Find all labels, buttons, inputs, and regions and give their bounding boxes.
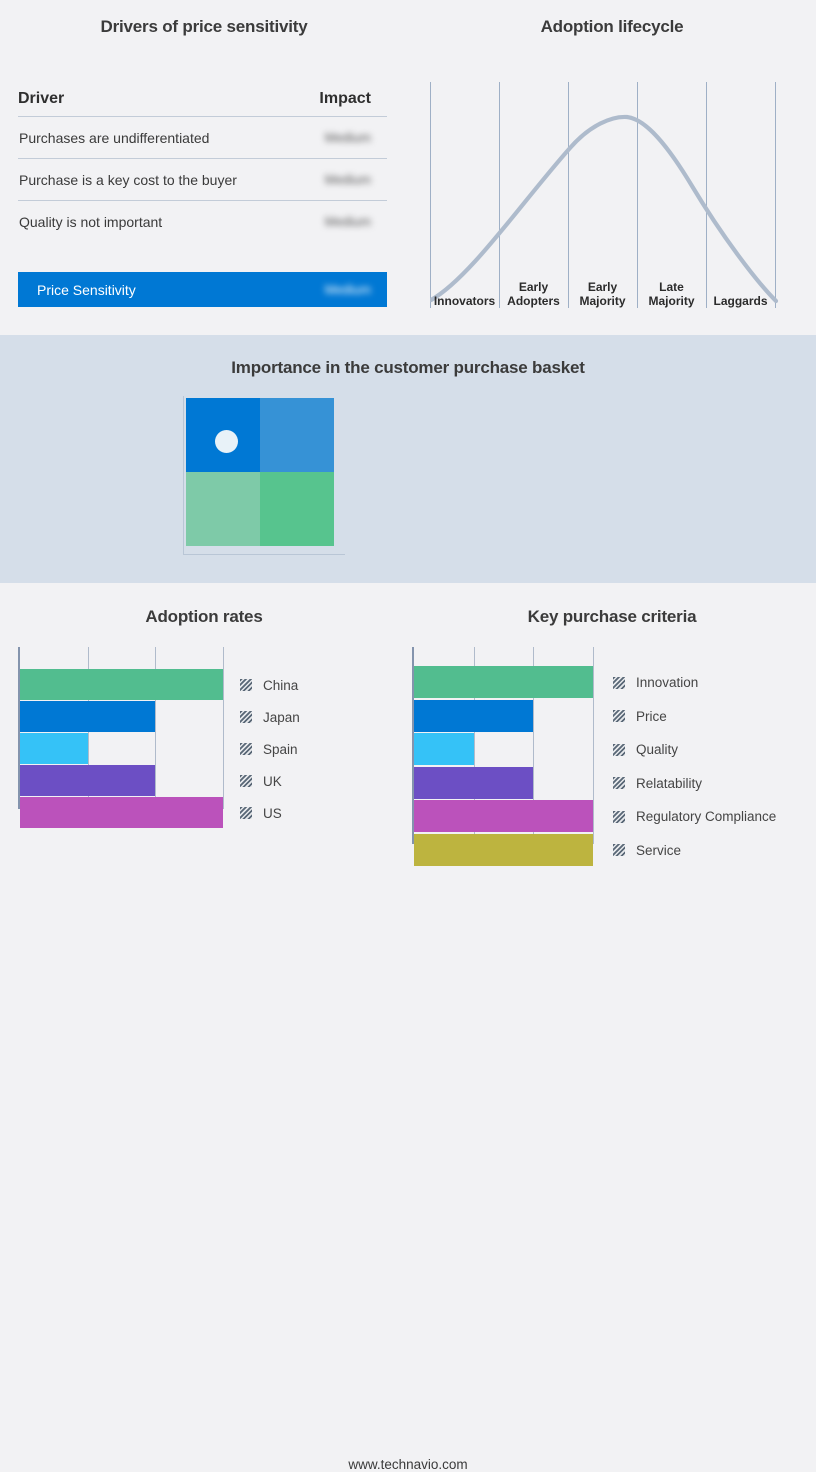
- legend-label: Service: [636, 843, 681, 858]
- top-band: Drivers of price sensitivity Driver Impa…: [0, 0, 816, 335]
- key-purchase-criteria-legend: InnovationPriceQualityRelatabilityRegula…: [613, 647, 813, 844]
- bottom-band: Adoption rates ChinaJapanSpainUKUS Key p…: [0, 583, 816, 902]
- impact-value: Medium: [325, 172, 371, 187]
- driver-label: Purchases are undifferentiated: [18, 130, 209, 146]
- segment-line-2: Majority: [637, 294, 706, 308]
- driver-label: Purchase is a key cost to the buyer: [18, 172, 237, 188]
- matrix-y-axis: [183, 396, 184, 554]
- price-sensitivity-label: Price Sensitivity: [37, 282, 136, 298]
- bar-price: [414, 700, 533, 732]
- lifecycle-segment-innovators: Innovators: [430, 294, 499, 308]
- table-row: Quality is not important Medium: [18, 201, 387, 242]
- hatched-square-icon: [240, 679, 252, 691]
- legend-item: Quality: [613, 742, 678, 757]
- legend-label: US: [263, 806, 282, 821]
- hatched-square-icon: [240, 807, 252, 819]
- column-header-driver: Driver: [18, 90, 64, 108]
- impact-value: Medium: [325, 214, 371, 229]
- matrix-quadrant-top-right: [260, 398, 334, 472]
- legend-label: Regulatory Compliance: [636, 809, 776, 824]
- matrix-quadrants: [186, 398, 334, 546]
- lifecycle-segment-late-majority: Late Majority: [637, 280, 706, 308]
- legend-label: Innovation: [636, 675, 698, 690]
- hatched-square-icon: [613, 710, 625, 722]
- matrix-quadrant-bottom-right: [260, 472, 334, 546]
- hatched-square-icon: [613, 677, 625, 689]
- hatched-square-icon: [240, 711, 252, 723]
- segment-line-1: Early: [568, 280, 637, 294]
- matrix-x-axis: [183, 554, 345, 555]
- table-header-row: Driver Impact: [18, 90, 387, 117]
- legend-item: Service: [613, 843, 681, 858]
- legend-label: Japan: [263, 710, 300, 725]
- price-sensitivity-value: Medium: [325, 282, 371, 297]
- basket-panel-title: Importance in the customer purchase bask…: [0, 358, 816, 378]
- importance-matrix: [180, 398, 345, 556]
- lifecycle-panel-title: Adoption lifecycle: [408, 17, 816, 37]
- legend-item: Price: [613, 709, 667, 724]
- matrix-position-dot: [215, 430, 238, 453]
- bar-china: [20, 669, 223, 700]
- footer-url: www.technavio.com: [0, 1457, 816, 1472]
- adoption-rates-legend: ChinaJapanSpainUKUS: [240, 647, 400, 809]
- lifecycle-segment-labels: Innovators Early Adopters Early Majority…: [430, 262, 802, 308]
- legend-item: Innovation: [613, 675, 698, 690]
- legend-item: UK: [240, 774, 282, 789]
- hatched-square-icon: [613, 811, 625, 823]
- lifecycle-segment-laggards: Laggards: [706, 294, 775, 308]
- segment-line-2: Majority: [568, 294, 637, 308]
- segment-line-1: Early: [499, 280, 568, 294]
- legend-label: Spain: [263, 742, 298, 757]
- key-purchase-criteria-title: Key purchase criteria: [408, 607, 816, 627]
- bar-quality: [414, 733, 474, 765]
- bar-regulatory-compliance: [414, 800, 593, 832]
- bar-us: [20, 797, 223, 828]
- legend-label: Price: [636, 709, 667, 724]
- segment-line-1: Innovators: [430, 294, 499, 308]
- purchase-basket-panel: Importance in the customer purchase bask…: [0, 335, 816, 583]
- hatched-square-icon: [613, 777, 625, 789]
- drivers-panel-title: Drivers of price sensitivity: [0, 17, 408, 37]
- drivers-table: Driver Impact Purchases are undifferenti…: [18, 90, 387, 242]
- bar-innovation: [414, 666, 593, 698]
- key-purchase-criteria-panel: Key purchase criteria InnovationPriceQua…: [408, 583, 816, 902]
- lifecycle-segment-early-adopters: Early Adopters: [499, 280, 568, 308]
- segment-line-1: Late: [637, 280, 706, 294]
- legend-label: China: [263, 678, 298, 693]
- drivers-panel: Drivers of price sensitivity Driver Impa…: [0, 0, 408, 335]
- impact-value: Medium: [325, 130, 371, 145]
- bar-uk: [20, 765, 155, 796]
- segment-line-1: Laggards: [706, 294, 775, 308]
- legend-item: Spain: [240, 742, 298, 757]
- legend-item: Relatability: [613, 776, 702, 791]
- bar-spain: [20, 733, 88, 764]
- legend-label: Relatability: [636, 776, 702, 791]
- adoption-lifecycle-panel: Adoption lifecycle Innovators Early: [408, 0, 816, 335]
- table-row: Purchases are undifferentiated Medium: [18, 117, 387, 159]
- bar-service: [414, 834, 593, 866]
- driver-label: Quality is not important: [18, 214, 162, 230]
- hatched-square-icon: [240, 775, 252, 787]
- table-row: Purchase is a key cost to the buyer Medi…: [18, 159, 387, 201]
- legend-item: China: [240, 678, 298, 693]
- legend-label: Quality: [636, 742, 678, 757]
- legend-label: UK: [263, 774, 282, 789]
- column-header-impact: Impact: [319, 90, 371, 108]
- legend-item: Japan: [240, 710, 300, 725]
- gridline: [593, 647, 594, 844]
- legend-item: US: [240, 806, 282, 821]
- gridline: [223, 647, 224, 809]
- bar-relatability: [414, 767, 533, 799]
- adoption-rates-title: Adoption rates: [0, 607, 408, 627]
- hatched-square-icon: [613, 744, 625, 756]
- lifecycle-segment-early-majority: Early Majority: [568, 280, 637, 308]
- legend-item: Regulatory Compliance: [613, 809, 776, 824]
- adoption-rates-panel: Adoption rates ChinaJapanSpainUKUS: [0, 583, 408, 902]
- matrix-quadrant-bottom-left: [186, 472, 260, 546]
- adoption-rates-plot: [18, 647, 223, 809]
- segment-line-2: Adopters: [499, 294, 568, 308]
- price-sensitivity-summary-row: Price Sensitivity Medium: [18, 272, 387, 307]
- bar-japan: [20, 701, 155, 732]
- key-purchase-criteria-plot: [412, 647, 594, 844]
- hatched-square-icon: [613, 844, 625, 856]
- hatched-square-icon: [240, 743, 252, 755]
